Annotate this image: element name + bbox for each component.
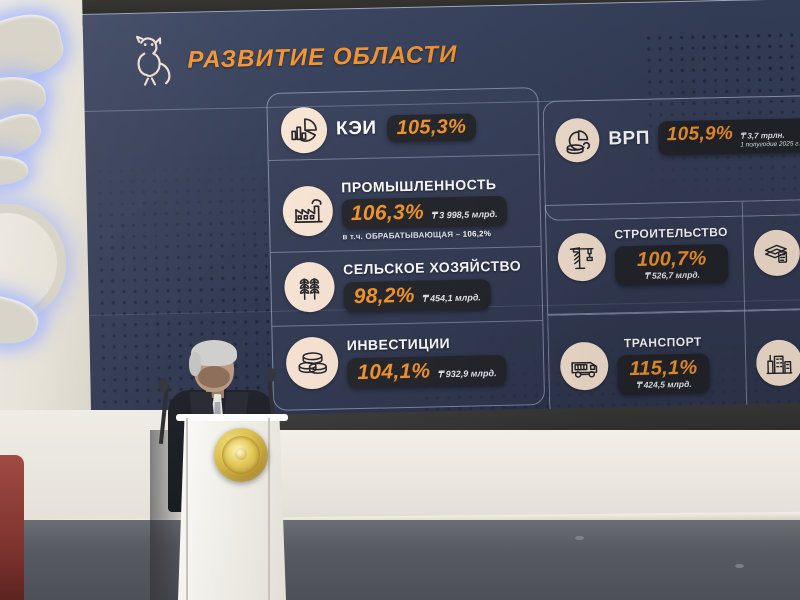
metric-amount-industry: ₸ 3 998,5 млрд. — [431, 210, 498, 220]
metric-card-agriculture[interactable]: СЕЛЬСКОЕ ХОЗЯЙСТВО 98,2% ₸ 454,1 млрд. — [284, 251, 541, 319]
metric-card-industry[interactable]: ПРОМЫШЛЕННОСТЬ 106,3% ₸ 3 998,5 млрд. в … — [282, 165, 540, 253]
metric-label-agriculture: СЕЛЬСКОЕ ХОЗЯЙСТВО — [343, 257, 521, 277]
metric-pill-industry: 106,3% ₸ 3 998,5 млрд. — [342, 196, 507, 230]
metric-pill-investments: 104,1% ₸ 932,9 млрд. — [347, 354, 507, 387]
relief-leopard-shape — [0, 152, 29, 189]
metric-label-kei: КЭИ — [336, 118, 377, 141]
money-pie-icon — [555, 118, 600, 163]
slide-header: РАЗВИТИЕ ОБЛАСТИ — [103, 18, 664, 90]
metric-amount-vrp: ₸ 3,7 трлн. — [740, 131, 800, 140]
red-foreground-object — [0, 455, 24, 600]
kazakhstan-state-emblem-icon — [214, 428, 268, 482]
metric-card-housing[interactable]: ВВО 11 4 — [755, 318, 800, 407]
metric-card-vrp[interactable]: ВРП 105,9% ₸ 3,7 трлн. 1 полугодие 2025 … — [555, 111, 800, 165]
banknotes-icon — [753, 229, 800, 276]
conference-stage-scene: РАЗВИТИЕ ОБЛАСТИ — [0, 0, 800, 600]
metric-amount-transport: ₸ 424,5 млрд. — [630, 379, 698, 389]
metric-amount-investments: ₸ 932,9 млрд. — [437, 369, 496, 379]
crane-icon — [557, 233, 606, 282]
metric-amount-construction: ₸ 526,7 млрд. — [627, 270, 717, 280]
factory-icon — [282, 186, 333, 237]
metric-card-investments[interactable]: ИНВЕСТИЦИИ 104,1% ₸ 932,9 млрд. — [285, 325, 542, 397]
metric-percent-industry: 106,3% — [351, 202, 424, 225]
floor — [0, 520, 800, 600]
metric-label-investments: ИНВЕСТИЦИИ — [347, 333, 506, 352]
metric-card-trade[interactable]: ТОРГ 10 ₸ 3 — [753, 208, 800, 297]
metric-pill-construction: 100,7% ₸ 526,7 млрд. — [615, 244, 729, 286]
metric-card-construction[interactable]: СТРОИТЕЛЬСТВО 100,7% ₸ 526,7 млрд. — [557, 209, 749, 303]
metric-note-industry: в т.ч. ОБРАБАТЫВАЮЩАЯ – 106,2% — [342, 229, 507, 242]
metric-pill-transport: 115,1% ₸ 424,5 млрд. — [617, 353, 710, 395]
metric-percent-agriculture: 98,2% — [353, 284, 414, 306]
backlit-relief-wall — [0, 0, 92, 460]
slide-title: РАЗВИТИЕ ОБЛАСТИ — [187, 41, 458, 75]
podium-edge — [186, 418, 188, 600]
metric-pill-vrp: 105,9% ₸ 3,7 трлн. 1 полугодие 2025 г. — [658, 118, 800, 156]
floor-mark — [735, 564, 744, 568]
metric-card-transport[interactable]: ТРАНСПОРТ 115,1% ₸ 424,5 млрд. — [559, 319, 751, 411]
coins-stack-icon — [286, 337, 339, 390]
metric-label-transport: ТРАНСПОРТ — [617, 334, 709, 350]
metric-percent-investments: 104,1% — [357, 360, 430, 383]
bus-icon — [560, 342, 609, 391]
metric-period-vrp: 1 полугодие 2025 г. — [740, 141, 800, 149]
metric-label-vrp: ВРП — [608, 128, 650, 151]
metric-percent-vrp: 105,9% — [667, 124, 734, 144]
snow-leopard-logo-icon — [125, 33, 174, 86]
wheat-icon — [284, 262, 335, 313]
metric-card-kei[interactable]: КЭИ 105,3% — [281, 101, 532, 154]
podium-top — [176, 414, 288, 421]
metric-percent-transport: 115,1% — [629, 357, 698, 378]
emblem-core — [235, 448, 247, 460]
metric-note-value: 106,2% — [463, 229, 492, 239]
metric-label-industry: ПРОМЫШЛЕННОСТЬ — [341, 176, 506, 196]
metric-percent-construction: 100,7% — [627, 248, 717, 270]
pie-chart-icon — [281, 107, 328, 154]
microphone-icon — [158, 378, 168, 392]
metric-note-prefix: в т.ч. ОБРАБАТЫВАЮЩАЯ – — [342, 230, 463, 242]
metric-percent-kei: 105,3% — [396, 116, 466, 138]
podium-edge — [268, 418, 270, 600]
metric-pill-kei: 105,3% — [386, 113, 476, 142]
microphone-icon — [266, 368, 276, 382]
panel-divider — [269, 154, 539, 161]
speaker-face-shadow — [198, 366, 230, 388]
metric-label-construction: СТРОИТЕЛЬСТВО — [614, 225, 728, 241]
floor-mark — [575, 536, 584, 540]
metric-amount-agriculture: ₸ 454,1 млрд. — [422, 293, 481, 303]
buildings-icon — [756, 339, 800, 386]
metric-pill-agriculture: 98,2% ₸ 454,1 млрд. — [343, 279, 491, 312]
